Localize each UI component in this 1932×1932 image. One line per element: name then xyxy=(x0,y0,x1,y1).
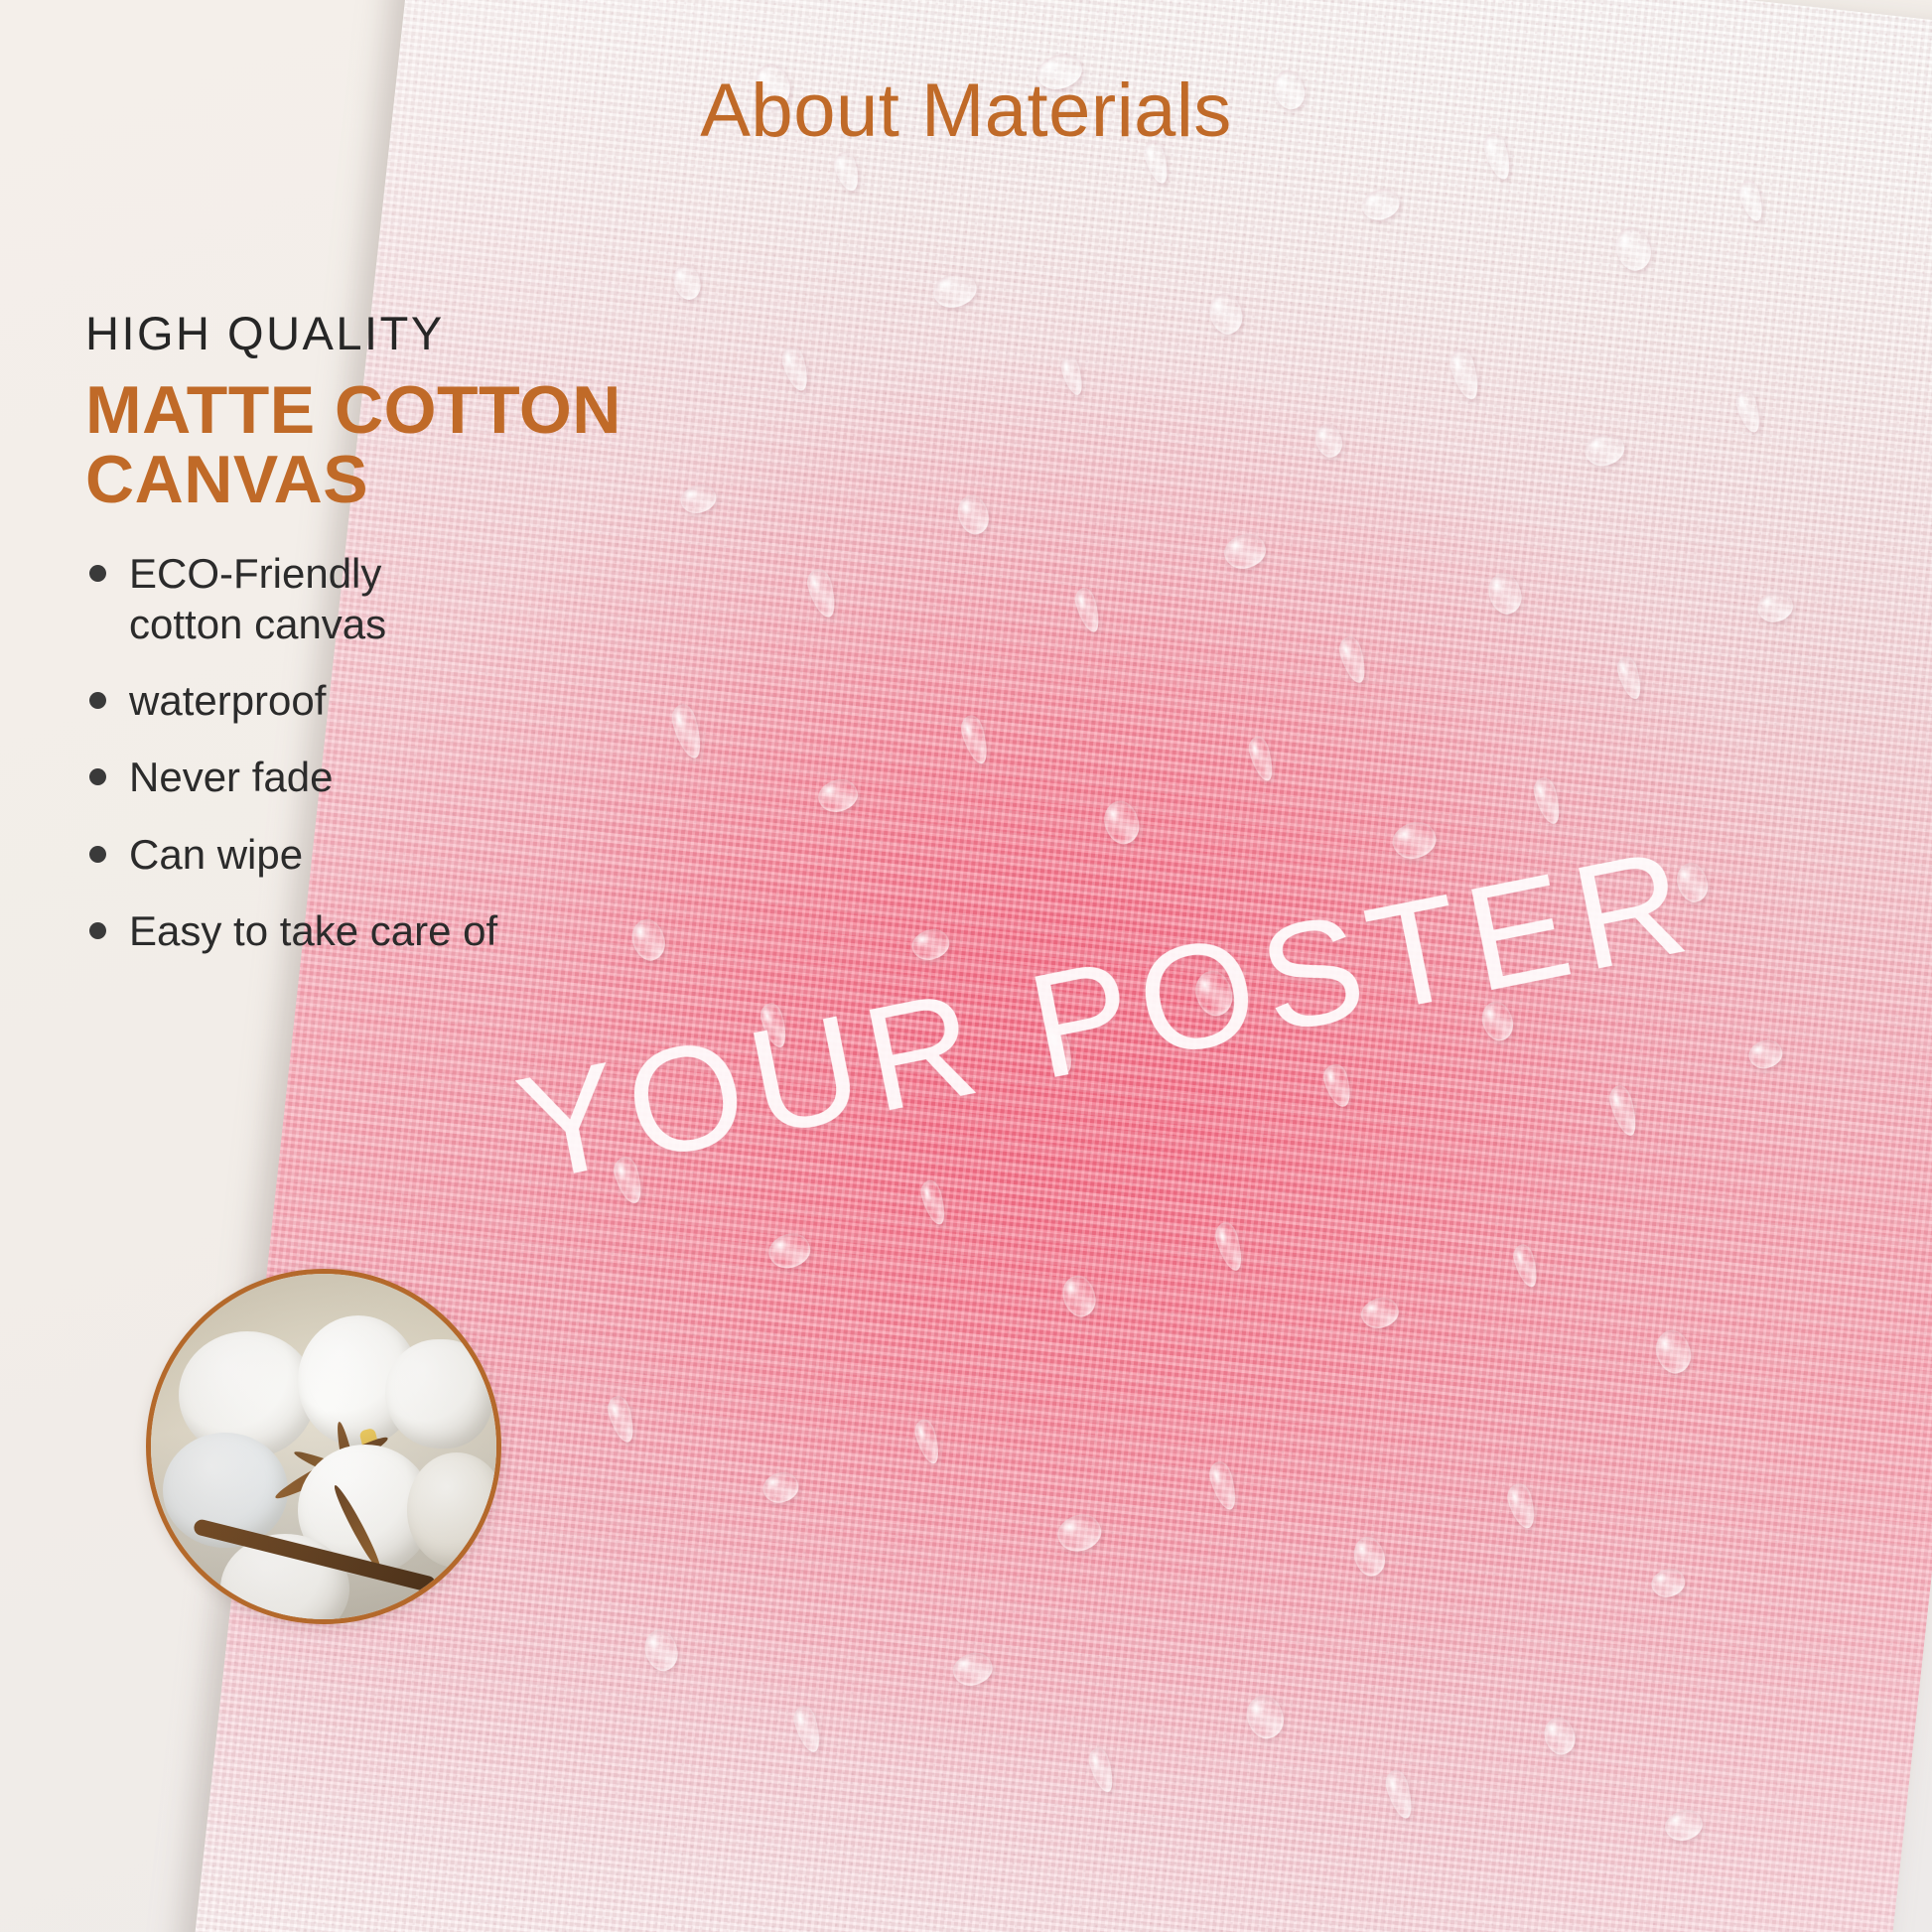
list-item: waterproof xyxy=(85,675,721,726)
bullet-dot-icon xyxy=(89,846,106,863)
material-title: MATTE COTTON CANVAS xyxy=(85,375,721,514)
feature-text-4: Can wipe xyxy=(129,831,303,878)
feature-text-2: waterproof xyxy=(129,677,326,724)
list-item: Never fade xyxy=(85,752,721,802)
feature-text-5: Easy to take care of xyxy=(129,907,497,954)
list-item: ECO-Friendly cotton canvas xyxy=(85,548,721,649)
feature-text-1a: ECO-Friendly xyxy=(129,550,381,597)
feature-text-1b: cotton canvas xyxy=(129,599,721,649)
material-copy-block: HIGH QUALITY MATTE COTTON CANVAS ECO-Fri… xyxy=(85,308,721,982)
cotton-boll-badge xyxy=(146,1269,501,1624)
bullet-dot-icon xyxy=(89,768,106,785)
feature-text-3: Never fade xyxy=(129,754,333,800)
bullet-dot-icon xyxy=(89,922,106,939)
list-item: Can wipe xyxy=(85,829,721,880)
material-title-line1: MATTE COTTON xyxy=(85,372,621,448)
bullet-dot-icon xyxy=(89,692,106,709)
material-title-line2: CANVAS xyxy=(85,442,368,517)
page-title: About Materials xyxy=(0,68,1932,154)
badge-vignette xyxy=(151,1274,496,1619)
cotton-flower-image xyxy=(151,1274,496,1619)
list-item: Easy to take care of xyxy=(85,905,721,956)
eyebrow-label: HIGH QUALITY xyxy=(85,308,721,359)
infographic-canvas: YOUR POSTER About Materials HIGH QUALITY… xyxy=(0,0,1932,1932)
feature-list: ECO-Friendly cotton canvas waterproof Ne… xyxy=(85,548,721,956)
bullet-dot-icon xyxy=(89,565,106,582)
